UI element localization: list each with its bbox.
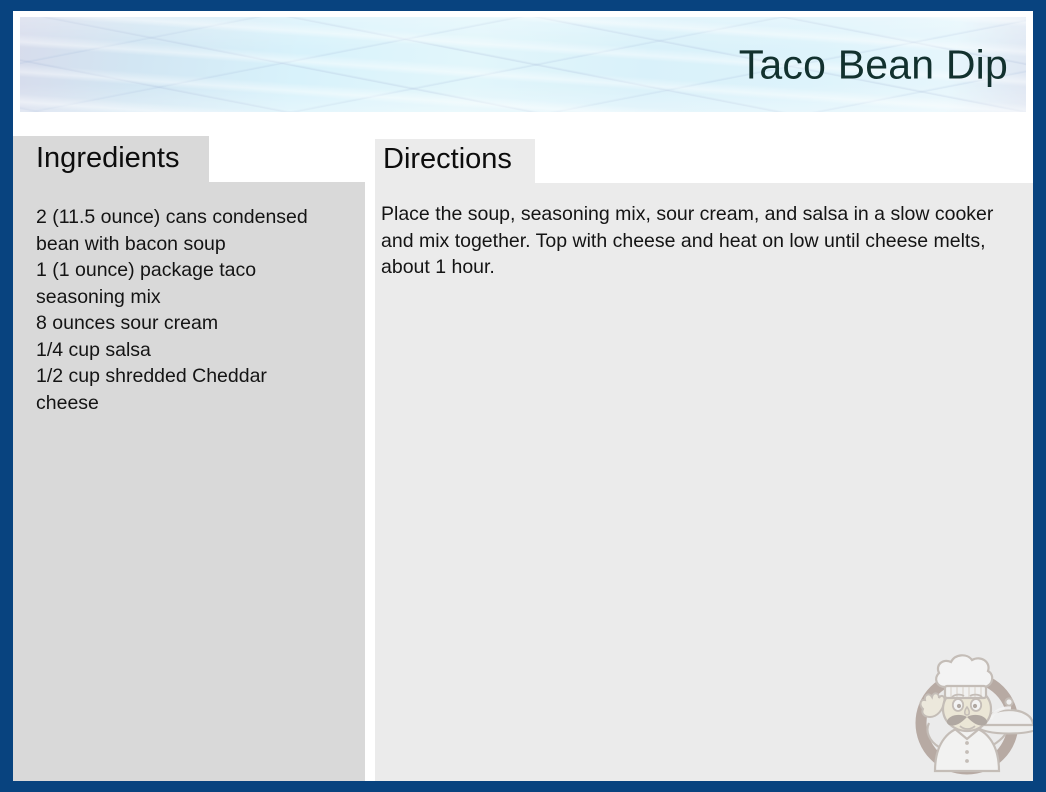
directions-heading: Directions [383,143,512,176]
ingredients-tab-cutout [209,136,365,182]
list-item: cheese [36,390,346,417]
list-item: bean with bacon soup [36,231,346,258]
list-item: 2 (11.5 ounce) cans condensed [36,204,346,231]
ingredients-panel: Ingredients 2 (11.5 ounce) cans condense… [13,136,365,781]
header-banner: Taco Bean Dip [20,17,1026,112]
recipe-title: Taco Bean Dip [739,41,1008,88]
list-item: seasoning mix [36,284,346,311]
list-item: 1/2 cup shredded Cheddar [36,363,346,390]
directions-panel: Directions Place the soup, seasoning mix… [375,139,1033,781]
list-item: 8 ounces sour cream [36,310,346,337]
ingredients-heading: Ingredients [36,142,180,175]
directions-tab-cutout [535,139,1033,183]
list-item: 1/4 cup salsa [36,337,346,364]
list-item: 1 (1 ounce) package taco [36,257,346,284]
directions-text: Place the soup, seasoning mix, sour crea… [381,201,1001,281]
panel-gutter [365,136,375,781]
recipe-card: Taco Bean Dip [0,0,1046,792]
card-inner-frame: Taco Bean Dip [13,11,1033,781]
ingredients-list: 2 (11.5 ounce) cans condensed bean with … [36,204,346,416]
